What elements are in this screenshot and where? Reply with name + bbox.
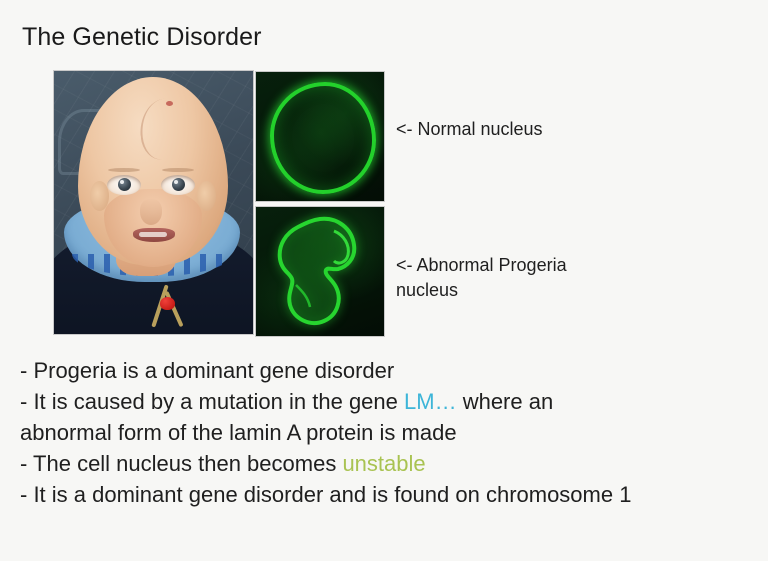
photo-brow-left (108, 168, 140, 172)
photo-eye-left (107, 175, 141, 195)
bullet-line-2-text-after: where an (457, 389, 554, 414)
slide-canvas: The Genetic Disorder (0, 0, 768, 561)
bullet-line-4: - The cell nucleus then becomes unstable (20, 448, 760, 479)
photo-pupil-left (118, 178, 131, 191)
bullet-line-2: - It is caused by a mutation in the gene… (20, 386, 760, 417)
caption-abnormal-line1: <- Abnormal Progeria (396, 253, 656, 278)
caption-abnormal-line2: nucleus (396, 278, 656, 303)
abnormal-nucleus-image (256, 207, 384, 336)
caption-normal-nucleus: <- Normal nucleus (396, 117, 543, 142)
page-title: The Genetic Disorder (22, 22, 262, 52)
normal-nucleus-ring (270, 82, 376, 194)
gene-name-highlight: LM… (404, 389, 457, 414)
bullet-line-5: - It is a dominant gene disorder and is … (20, 479, 760, 510)
abnormal-nucleus-outline (276, 215, 364, 327)
bullet-list: - Progeria is a dominant gene disorder -… (20, 355, 760, 510)
photo-mouth (133, 228, 175, 242)
photo-scalp-vein (137, 97, 189, 161)
bullet-line-2-text-before: - It is caused by a mutation in the gene (20, 389, 404, 414)
photo-eye-right (161, 175, 195, 195)
unstable-highlight: unstable (342, 451, 425, 476)
photo-nose (140, 199, 162, 225)
bullet-line-3: abnormal form of the lamin A protein is … (20, 417, 760, 448)
bullet-line-4-text-before: - The cell nucleus then becomes (20, 451, 342, 476)
photo-brooch (160, 297, 175, 310)
photo-scalp-mark (166, 101, 173, 106)
photo-brow-right (162, 168, 194, 172)
normal-nucleus-image (256, 72, 384, 201)
caption-abnormal-nucleus: <- Abnormal Progeria nucleus (396, 253, 656, 303)
bullet-line-1: - Progeria is a dominant gene disorder (20, 355, 760, 386)
photo-pupil-right (172, 178, 185, 191)
patient-photo (54, 71, 253, 334)
